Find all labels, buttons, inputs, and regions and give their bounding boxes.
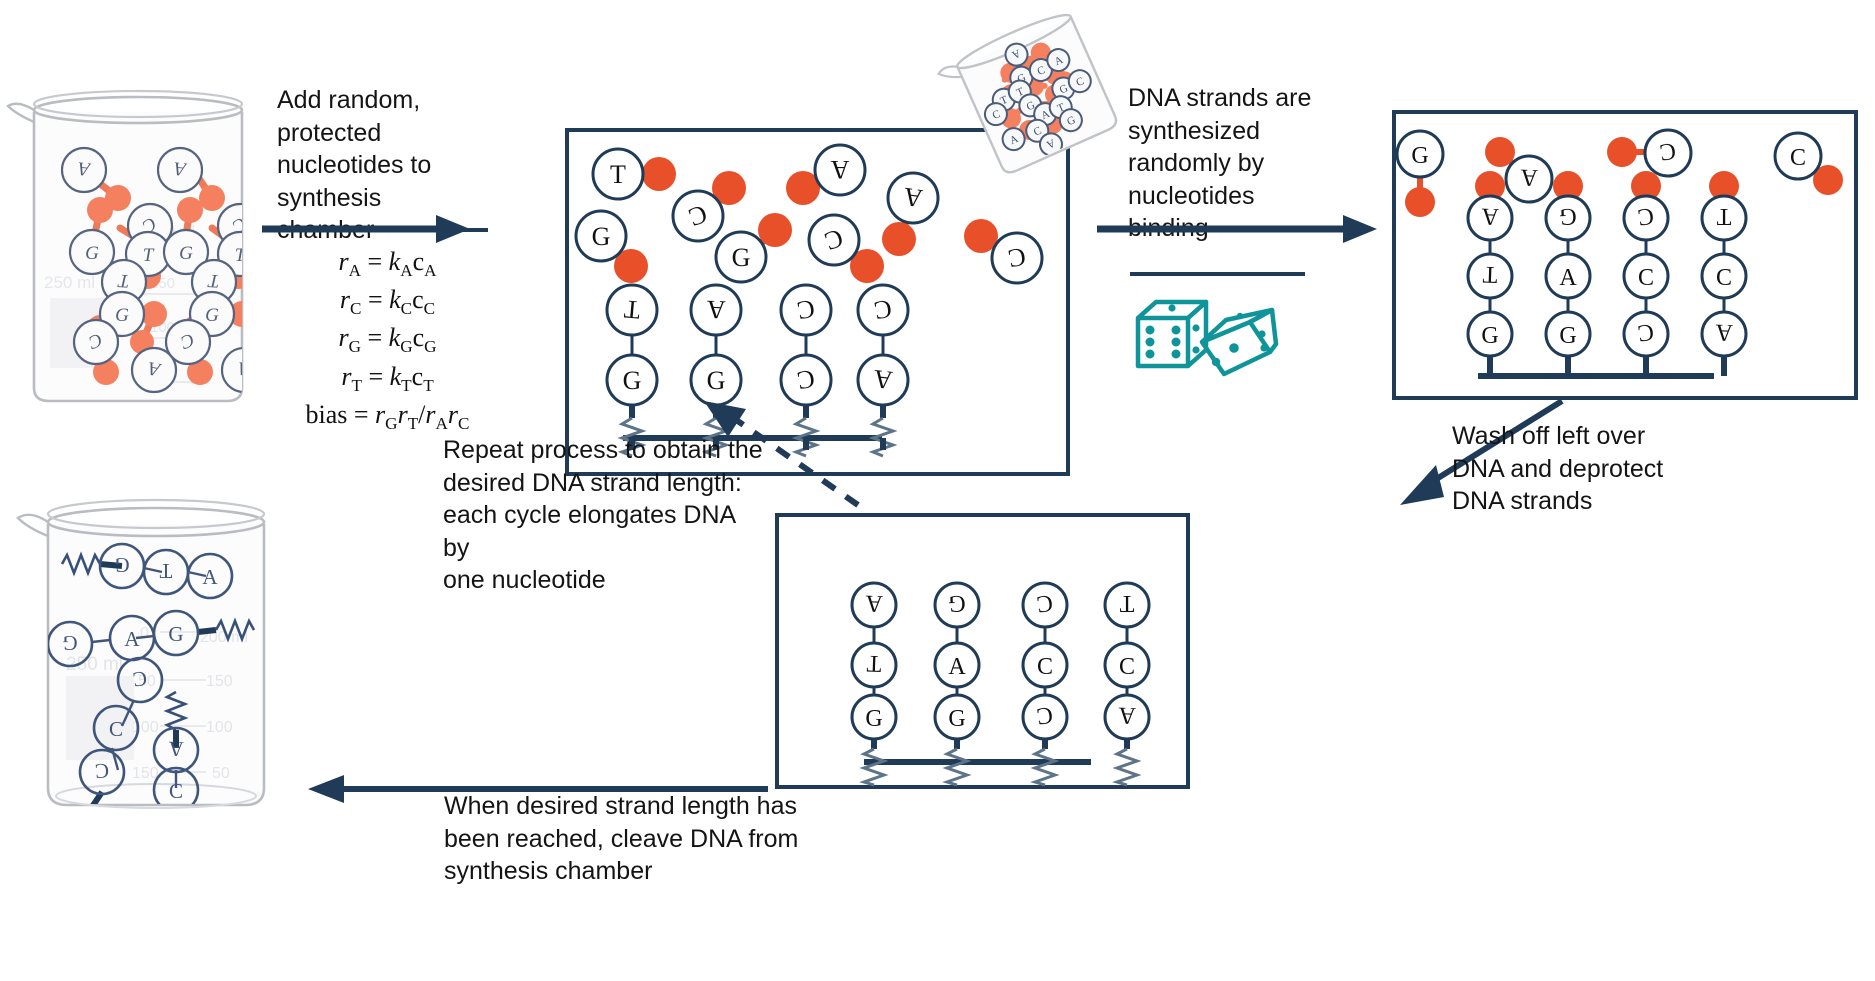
- svg-text:A: A: [124, 627, 140, 651]
- svg-text:C: C: [109, 717, 123, 741]
- final-strand-4: T C A: [1105, 583, 1149, 785]
- graduation-0-2: 0: [140, 625, 149, 642]
- free-nucleotide-T: T: [593, 149, 643, 199]
- graduation-150-2: 150: [206, 673, 233, 690]
- svg-text:G: G: [707, 366, 726, 395]
- svg-text:C: C: [1638, 265, 1654, 291]
- svg-text:C: C: [1716, 265, 1732, 291]
- svg-text:A: A: [706, 295, 726, 325]
- divider-under-step2: [1130, 272, 1305, 276]
- graduation-100-2: 100: [206, 719, 233, 736]
- svg-text:G: G: [948, 706, 965, 732]
- svg-text:G: G: [732, 243, 751, 272]
- svg-text:C: C: [94, 759, 110, 784]
- svg-text:A: A: [202, 565, 218, 589]
- free-nucleotide-C2: C: [809, 215, 859, 265]
- svg-text:T: T: [866, 650, 882, 677]
- synthesis-chamber-deprotected: A T G G A G C C: [775, 513, 1190, 789]
- svg-text:G: G: [168, 622, 183, 646]
- svg-text:A: A: [830, 155, 849, 184]
- free-nucleotide-G: G: [576, 211, 626, 261]
- pouring-beaker: A G C A T T C G G C A T A C G A: [940, 5, 1140, 200]
- svg-text:A: A: [948, 654, 966, 680]
- nucleotide-C4: C: [166, 320, 210, 364]
- arrow-1: [258, 205, 473, 253]
- equation-rate-C: rC = kCcC: [280, 283, 495, 321]
- svg-text:T: T: [610, 160, 626, 189]
- svg-text:C: C: [169, 779, 183, 803]
- step3-label: Wash off left over DNA and deprotect DNA…: [1452, 420, 1712, 518]
- final-strand-2: G A G: [935, 583, 979, 785]
- svg-text:T: T: [170, 819, 183, 843]
- svg-text:G: G: [1559, 203, 1577, 230]
- final-strand-3: C C C: [1023, 583, 1067, 785]
- svg-text:A: A: [167, 737, 184, 762]
- svg-text:G: G: [85, 243, 99, 264]
- svg-text:A: A: [1519, 164, 1538, 191]
- svg-text:G: G: [623, 366, 642, 395]
- free-nucleotide-C: C: [673, 191, 723, 241]
- svg-text:C: C: [1037, 654, 1053, 680]
- free-nucleotide-A: A: [815, 145, 865, 195]
- final-strand-1: A T G: [852, 583, 896, 785]
- svg-text:T: T: [143, 245, 155, 266]
- svg-text:G: G: [114, 553, 129, 577]
- equation-rate-G: rG = kGcG: [280, 321, 495, 359]
- svg-text:G: G: [179, 243, 193, 264]
- svg-text:G: G: [1481, 323, 1498, 349]
- free-nucleotide-G2: G: [716, 232, 766, 282]
- free-nucleotide-A2: A: [888, 173, 938, 223]
- equation-rate-T: rT = kTcT: [280, 360, 495, 398]
- randomness-dice: [1130, 292, 1290, 382]
- svg-text:A: A: [1117, 702, 1136, 729]
- svg-text:C: C: [1119, 654, 1135, 680]
- arrow-2: [1093, 205, 1381, 253]
- step4-label: When desired strand length has been reac…: [444, 790, 844, 888]
- svg-text:C: C: [1790, 145, 1806, 171]
- graduation-50-2: 50: [212, 765, 230, 782]
- svg-text:G: G: [115, 305, 129, 326]
- nucleotide-C2: C: [74, 320, 118, 364]
- equation-bias: bias = rGrT/rArC: [280, 398, 495, 436]
- grown-strand-3: C C C: [1624, 171, 1668, 376]
- svg-text:T: T: [623, 294, 641, 324]
- svg-text:G: G: [592, 222, 611, 251]
- svg-text:A: A: [1480, 203, 1499, 230]
- svg-text:A: A: [864, 590, 883, 617]
- synthesis-chamber-after-binding: G A C C A T G G: [1392, 110, 1858, 400]
- svg-text:A: A: [1559, 265, 1577, 291]
- svg-text:G: G: [205, 305, 219, 326]
- grown-strand-4: T C A: [1702, 171, 1746, 376]
- nucleotide-A: A: [62, 148, 106, 192]
- svg-text:A: A: [1714, 319, 1733, 346]
- beaker-of-cleaved-dna-strands: 250 ml 200 ml 150 100 50 0 50 100 150 G …: [10, 480, 310, 830]
- svg-text:T: T: [1716, 203, 1731, 229]
- leftover-nucleotide-C: C: [1645, 130, 1691, 176]
- svg-text:G: G: [1411, 143, 1428, 169]
- leftover-nucleotide-A: A: [1506, 156, 1552, 202]
- rate-equation-block: rA = kAcA rC = kCcC rG = kGcG rT = kTcT …: [280, 245, 495, 436]
- graduation-mid-150: 150: [132, 765, 159, 782]
- step5-label: Repeat process to obtain the desired DNA…: [443, 434, 763, 597]
- free-nucleotide-C3: C: [992, 233, 1042, 283]
- leftover-nucleotide-G: G: [1397, 131, 1443, 177]
- svg-text:A: A: [872, 364, 894, 395]
- leftover-nucleotide-C2: C: [1775, 133, 1821, 179]
- nucleotide-A3: A: [158, 148, 202, 192]
- svg-text:T: T: [159, 559, 172, 583]
- svg-text:T: T: [1119, 590, 1134, 616]
- svg-text:G: G: [62, 631, 77, 655]
- svg-text:T: T: [1482, 261, 1498, 288]
- nucleotide-A4: A: [222, 348, 266, 392]
- svg-text:T: T: [235, 245, 247, 266]
- bound-strand-1: T G: [607, 285, 657, 456]
- grown-strand-2: G A G: [1546, 171, 1590, 376]
- graduation-250ml: 250 ml: [44, 273, 95, 292]
- svg-text:G: G: [948, 590, 966, 617]
- svg-text:G: G: [865, 706, 882, 732]
- grown-strand-1: A T G: [1468, 171, 1512, 376]
- svg-text:G: G: [1559, 323, 1576, 349]
- beaker-of-protected-nucleotides: 250 ml 200 ml 150 100 50 50: [0, 70, 272, 410]
